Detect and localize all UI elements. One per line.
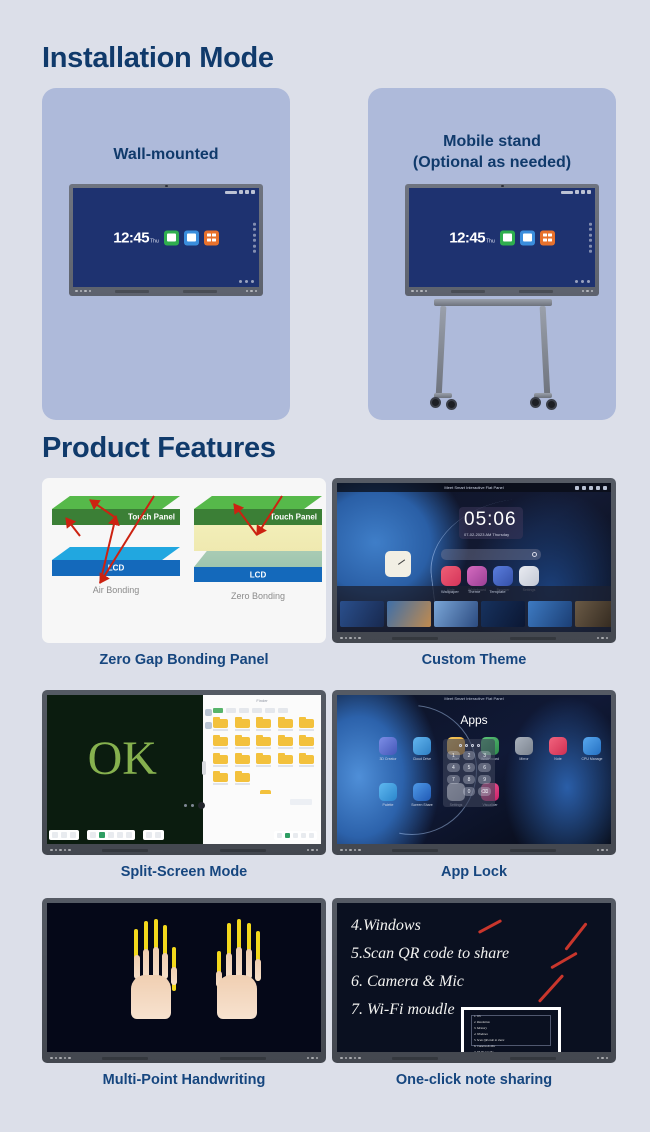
hand-left — [125, 933, 179, 1043]
apps-screen-title: Apps — [337, 713, 611, 727]
handwriting-text: OK — [88, 731, 157, 786]
mobile-stand-trolley — [368, 293, 616, 413]
wallpaper-thumb[interactable] — [528, 601, 572, 627]
app-icon-palette[interactable]: Palette — [371, 783, 405, 807]
file-manager-pane[interactable]: Finder — [203, 695, 321, 844]
panel-bezel — [332, 634, 616, 643]
panel-frame: OK Finder — [42, 690, 326, 855]
tab-template[interactable]: Template — [489, 589, 505, 594]
caster-wheel-rear-right — [546, 399, 557, 410]
screen-share-icon[interactable] — [184, 230, 199, 245]
folder-item[interactable] — [213, 753, 228, 764]
panel-title: Meet Smart Interactive Flat Panel — [444, 485, 503, 490]
folder-item[interactable] — [299, 735, 314, 746]
whiteboard-pane[interactable]: OK — [47, 695, 203, 844]
feature-caption: Split-Screen Mode — [42, 864, 326, 880]
whiteboard-icon[interactable] — [164, 230, 179, 245]
caster-wheel-rear-left — [446, 399, 457, 410]
pin-keypad[interactable]: 1 2 3 4 5 6 7 8 9 0 ⌫ — [443, 739, 495, 807]
note-line-2: 5.Scan QR code to share — [351, 945, 509, 963]
toolbar-group-left[interactable] — [49, 830, 79, 840]
keypad-key[interactable]: 4 — [447, 763, 460, 772]
keypad-key-blank — [447, 787, 460, 796]
installation-mode-heading: Installation Mode — [42, 42, 274, 75]
theme-tabs[interactable]: Wallpaper Theme Template — [441, 589, 506, 594]
share-preview-thumbnail: 1. OS 2. Resolution 3. Memory 4. Windows… — [464, 1010, 558, 1052]
install-label-mobile-stand: Mobile stand (Optional as needed) — [368, 131, 616, 173]
folder-item[interactable] — [299, 717, 314, 728]
caster-wheel-front-right — [530, 397, 541, 408]
file-manager-sidebar[interactable] — [205, 709, 212, 729]
feature-card-multi-point-handwriting: Multi-Point Handwriting — [42, 898, 326, 1088]
panel-screen: OK Finder — [47, 695, 321, 844]
folder-item[interactable] — [235, 771, 250, 782]
panel-frame: Meet Smart Interactive Flat Panel 05:06 … — [332, 478, 616, 643]
bonding-diagram: Touch Panel LCD Air Bonding Touch Panel — [42, 478, 326, 643]
floating-menu-handle[interactable] — [184, 802, 205, 809]
folder-grid[interactable] — [213, 717, 317, 782]
wallpaper-thumb[interactable] — [434, 601, 478, 627]
wallpaper-thumb[interactable] — [575, 601, 611, 627]
feature-caption: One-click note sharing — [332, 1072, 616, 1088]
clock-time: 12:45 — [449, 229, 485, 246]
file-manager-bottom-bar[interactable] — [274, 831, 317, 840]
wallpaper-thumb[interactable] — [481, 601, 525, 627]
note-line-1: 4.Windows — [351, 917, 421, 935]
status-icons[interactable] — [575, 486, 607, 490]
app-icon-cloud-drive[interactable]: Cloud Drive — [405, 737, 439, 761]
home-center-row: 12:45 Thu — [73, 229, 259, 246]
clock-day: Thu — [486, 238, 495, 244]
feature-card-custom-theme: Meet Smart Interactive Flat Panel 05:06 … — [332, 478, 616, 668]
analog-clock-widget[interactable] — [385, 551, 411, 577]
app-label: Cloud Drive — [405, 757, 439, 761]
install-label-line2: (Optional as needed) — [413, 154, 571, 171]
panel-bezel — [332, 846, 616, 855]
optical-adhesive-layer — [194, 525, 322, 551]
clock-date: 07-02-2023 AM Thursday — [464, 532, 518, 537]
whiteboard-icon[interactable] — [500, 230, 515, 245]
feature-card-split-screen: OK Finder — [42, 690, 326, 880]
file-manager-title: Finder — [203, 698, 321, 703]
product-brochure-page: Installation Mode Wall-mounted 12:45 Thu — [0, 0, 650, 1132]
toolbar-group-right[interactable] — [143, 830, 164, 840]
caster-wheel-front-left — [430, 397, 441, 408]
system-tray[interactable] — [239, 280, 254, 283]
app-icon-screen-share[interactable]: Screen Share — [405, 783, 439, 807]
side-toolbar[interactable] — [589, 222, 592, 253]
home-center-row: 12:45 Thu — [409, 229, 595, 246]
panel-screen — [47, 903, 321, 1052]
stand-leg-right — [540, 306, 551, 398]
stand-crossbar — [434, 299, 552, 306]
panel-bezel — [42, 1054, 326, 1063]
status-bar — [561, 190, 591, 194]
interactive-panel-mobile: 12:45 Thu — [405, 184, 599, 296]
apps-grid-icon[interactable] — [540, 230, 555, 245]
install-card-mobile-stand: Mobile stand (Optional as needed) 12:45 … — [368, 88, 616, 420]
file-manager-toolbar[interactable] — [213, 707, 317, 713]
panel-bezel — [69, 287, 263, 296]
folder-item[interactable] — [256, 735, 271, 746]
split-divider-handle[interactable] — [202, 761, 206, 775]
keypad-key-backspace[interactable]: ⌫ — [478, 787, 491, 796]
app-label: 3D Creator — [371, 757, 405, 761]
keypad-key[interactable]: 5 — [463, 763, 476, 772]
feature-card-zero-gap-bonding: Touch Panel LCD Air Bonding Touch Panel — [42, 478, 326, 668]
feature-caption: App Lock — [332, 864, 616, 880]
app-label: Note — [541, 757, 575, 761]
keypad-key[interactable]: 3 — [478, 751, 491, 760]
lcd-slab: LCD — [52, 547, 180, 576]
folder-item[interactable] — [278, 753, 293, 764]
touch-panel-label: Touch Panel — [128, 513, 175, 522]
search-bar[interactable] — [441, 549, 541, 560]
lcd-slab: LCD — [194, 567, 322, 582]
panel-screen: Meet Smart Interactive Flat Panel 05:06 … — [337, 483, 611, 632]
folder-item[interactable] — [235, 735, 250, 746]
panel-title: Meet Smart Interactive Flat Panel — [337, 696, 611, 701]
folder-item[interactable] — [256, 753, 271, 764]
folder-item[interactable] — [278, 735, 293, 746]
whiteboard-toolbars[interactable] — [49, 830, 164, 840]
hand-right — [211, 933, 265, 1043]
keypad-keys[interactable]: 1 2 3 4 5 6 7 8 9 0 ⌫ — [447, 751, 491, 796]
folder-item[interactable] — [299, 753, 314, 764]
app-label: Mirror — [507, 757, 541, 761]
tab-theme[interactable]: Theme — [468, 589, 480, 594]
bonding-name-zero: Zero Bonding — [194, 591, 322, 601]
panel-screen: 12:45 Thu — [409, 188, 595, 287]
folder-item[interactable] — [235, 717, 250, 728]
folder-item[interactable] — [256, 717, 271, 728]
stand-leg-left — [436, 306, 447, 398]
app-label: Screen Share — [405, 803, 439, 807]
clock-time: 12:45 — [113, 229, 149, 246]
folder-item[interactable] — [213, 717, 228, 728]
bonding-column-air: Touch Panel LCD Air Bonding — [52, 496, 180, 595]
theme-picker-strip: Wallpaper Theme Template — [337, 586, 611, 632]
keypad-key[interactable]: 6 — [478, 763, 491, 772]
panel-screen: Meet Smart Interactive Flat Panel Apps 3… — [337, 695, 611, 844]
keypad-key[interactable]: 0 — [463, 787, 476, 796]
folder-item[interactable] — [235, 753, 250, 764]
wallpaper-thumb[interactable] — [387, 601, 431, 627]
air-gap — [52, 525, 180, 547]
feature-card-note-sharing: 4.Windows 5.Scan QR code to share 6. Cam… — [332, 898, 616, 1088]
feature-caption: Custom Theme — [332, 652, 616, 668]
panel-bezel — [332, 1054, 616, 1063]
panel-frame: 4.Windows 5.Scan QR code to share 6. Cam… — [332, 898, 616, 1063]
panel-screen: 4.Windows 5.Scan QR code to share 6. Cam… — [337, 903, 611, 1052]
app-label: CPU Manage — [575, 757, 609, 761]
status-bar — [225, 190, 255, 194]
panel-frame: Meet Smart Interactive Flat Panel Apps 3… — [332, 690, 616, 855]
install-card-wall-mounted: Wall-mounted 12:45 Thu — [42, 88, 290, 420]
camera-dot-icon — [501, 185, 504, 187]
note-line-4: 7. Wi-Fi moudle — [351, 1001, 455, 1019]
pin-dots — [447, 744, 491, 747]
install-label-line1: Mobile stand — [443, 133, 541, 150]
wallpaper-thumbnails[interactable] — [340, 601, 611, 627]
touch-panel-label: Touch Panel — [270, 513, 317, 522]
top-status-bar: Meet Smart Interactive Flat Panel — [337, 483, 611, 492]
touch-panel-slab: Touch Panel — [52, 496, 180, 525]
feature-caption: Multi-Point Handwriting — [42, 1072, 326, 1088]
system-tray[interactable] — [575, 280, 590, 283]
keypad-key[interactable]: 9 — [478, 775, 491, 784]
feature-card-app-lock: Meet Smart Interactive Flat Panel Apps 3… — [332, 690, 616, 880]
screen-share-icon[interactable] — [520, 230, 535, 245]
clock-widget[interactable]: 05:06 07-02-2023 AM Thursday — [459, 507, 523, 539]
app-icon-note[interactable]: Note — [541, 737, 575, 761]
clock-time: 05:06 — [464, 510, 518, 530]
note-line-3: 6. Camera & Mic — [351, 973, 464, 991]
app-icon-mirror[interactable]: Mirror — [507, 737, 541, 761]
keypad-key[interactable]: 7 — [447, 775, 460, 784]
clock-day: Thu — [150, 238, 159, 244]
bonding-name-air: Air Bonding — [52, 585, 180, 595]
feature-caption: Zero Gap Bonding Panel — [42, 652, 326, 668]
popup-line: 7. Wi-Fi moudle — [474, 1050, 493, 1052]
tab-wallpaper[interactable]: Wallpaper — [441, 589, 459, 594]
keypad-key[interactable]: 1 — [447, 751, 460, 760]
app-icon-cpu-manage[interactable]: CPU Manage — [575, 737, 609, 761]
camera-dot-icon — [165, 185, 168, 187]
share-preview-popup[interactable]: 1. OS 2. Resolution 3. Memory 4. Windows… — [461, 1007, 561, 1052]
search-icon — [532, 552, 537, 557]
install-label-wall-mounted: Wall-mounted — [42, 144, 290, 165]
interactive-panel-wall: 12:45 Thu — [69, 184, 263, 296]
panel-frame — [42, 898, 326, 1063]
touch-panel-slab: Touch Panel — [194, 496, 322, 525]
app-icon-3d-creator[interactable]: 3D Creator — [371, 737, 405, 761]
keypad-key[interactable]: 2 — [463, 751, 476, 760]
panel-screen: 12:45 Thu — [73, 188, 259, 287]
folder-item[interactable] — [278, 717, 293, 728]
toolbar-group-center[interactable] — [87, 830, 135, 840]
lcd-label: LCD — [250, 570, 266, 579]
panel-bezel — [42, 846, 326, 855]
folder-item[interactable] — [213, 735, 228, 746]
folder-item[interactable] — [213, 771, 228, 782]
apps-grid-icon[interactable] — [204, 230, 219, 245]
keypad-key[interactable]: 8 — [463, 775, 476, 784]
adhesive-bevel — [194, 551, 322, 567]
side-toolbar[interactable] — [253, 222, 256, 253]
app-label: Palette — [371, 803, 405, 807]
popup-inner-frame — [471, 1015, 551, 1046]
lcd-label: LCD — [108, 564, 124, 573]
whiteboard-canvas[interactable] — [47, 903, 321, 1052]
bonding-column-zero: Touch Panel LCD Zero Bonding — [194, 496, 322, 601]
wallpaper-thumb[interactable] — [340, 601, 384, 627]
product-features-heading: Product Features — [42, 432, 276, 465]
